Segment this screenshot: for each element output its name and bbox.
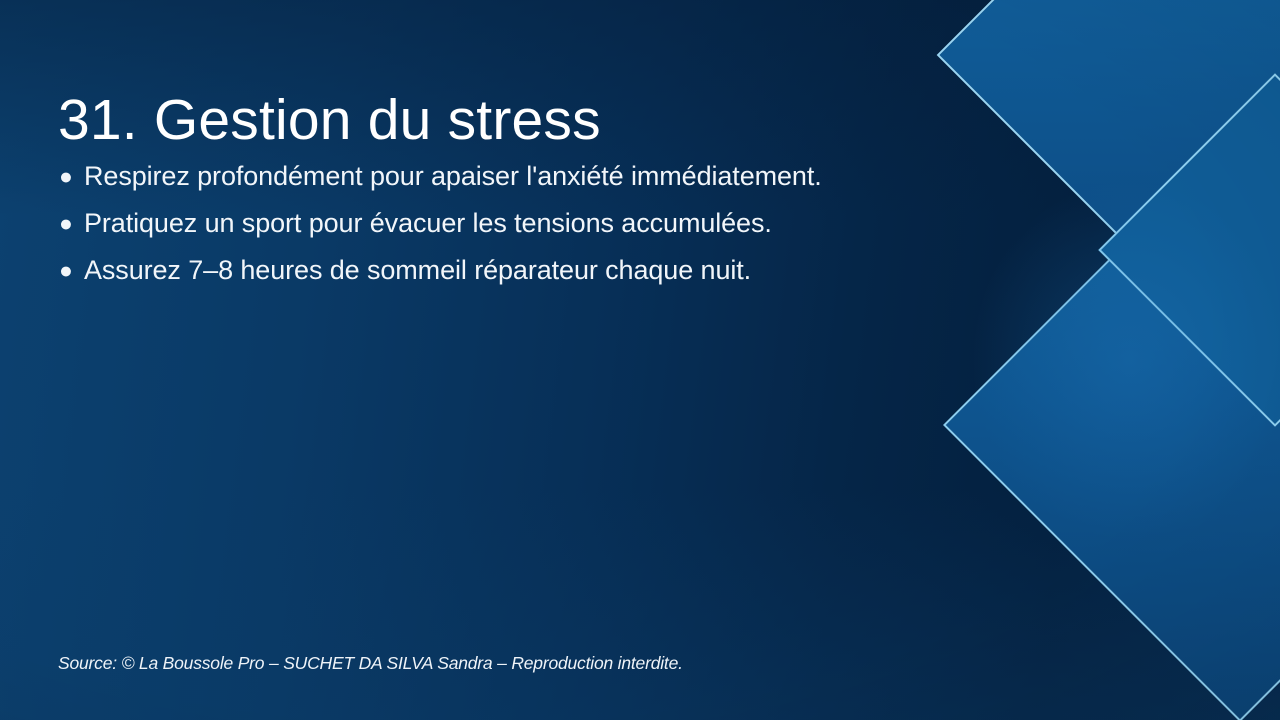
slide-canvas: 31. Gestion du stress ● Respirez profond… bbox=[0, 0, 1280, 720]
list-item-text: Respirez profondément pour apaiser l'anx… bbox=[84, 161, 822, 191]
bullet-icon: ● bbox=[59, 247, 73, 294]
bullet-icon: ● bbox=[59, 153, 73, 200]
source-attribution: Source: © La Boussole Pro – SUCHET DA SI… bbox=[58, 653, 683, 674]
bullet-icon: ● bbox=[59, 200, 73, 247]
list-item-text: Assurez 7–8 heures de sommeil réparateur… bbox=[84, 255, 751, 285]
list-item: ● Pratiquez un sport pour évacuer les te… bbox=[58, 200, 1058, 247]
list-item-text: Pratiquez un sport pour évacuer les tens… bbox=[84, 208, 772, 238]
list-item: ● Respirez profondément pour apaiser l'a… bbox=[58, 153, 1058, 200]
page-title: 31. Gestion du stress bbox=[58, 90, 878, 152]
bullet-list: ● Respirez profondément pour apaiser l'a… bbox=[58, 153, 1058, 294]
slide-content: 31. Gestion du stress ● Respirez profond… bbox=[0, 0, 1280, 720]
list-item: ● Assurez 7–8 heures de sommeil réparate… bbox=[58, 247, 1058, 294]
